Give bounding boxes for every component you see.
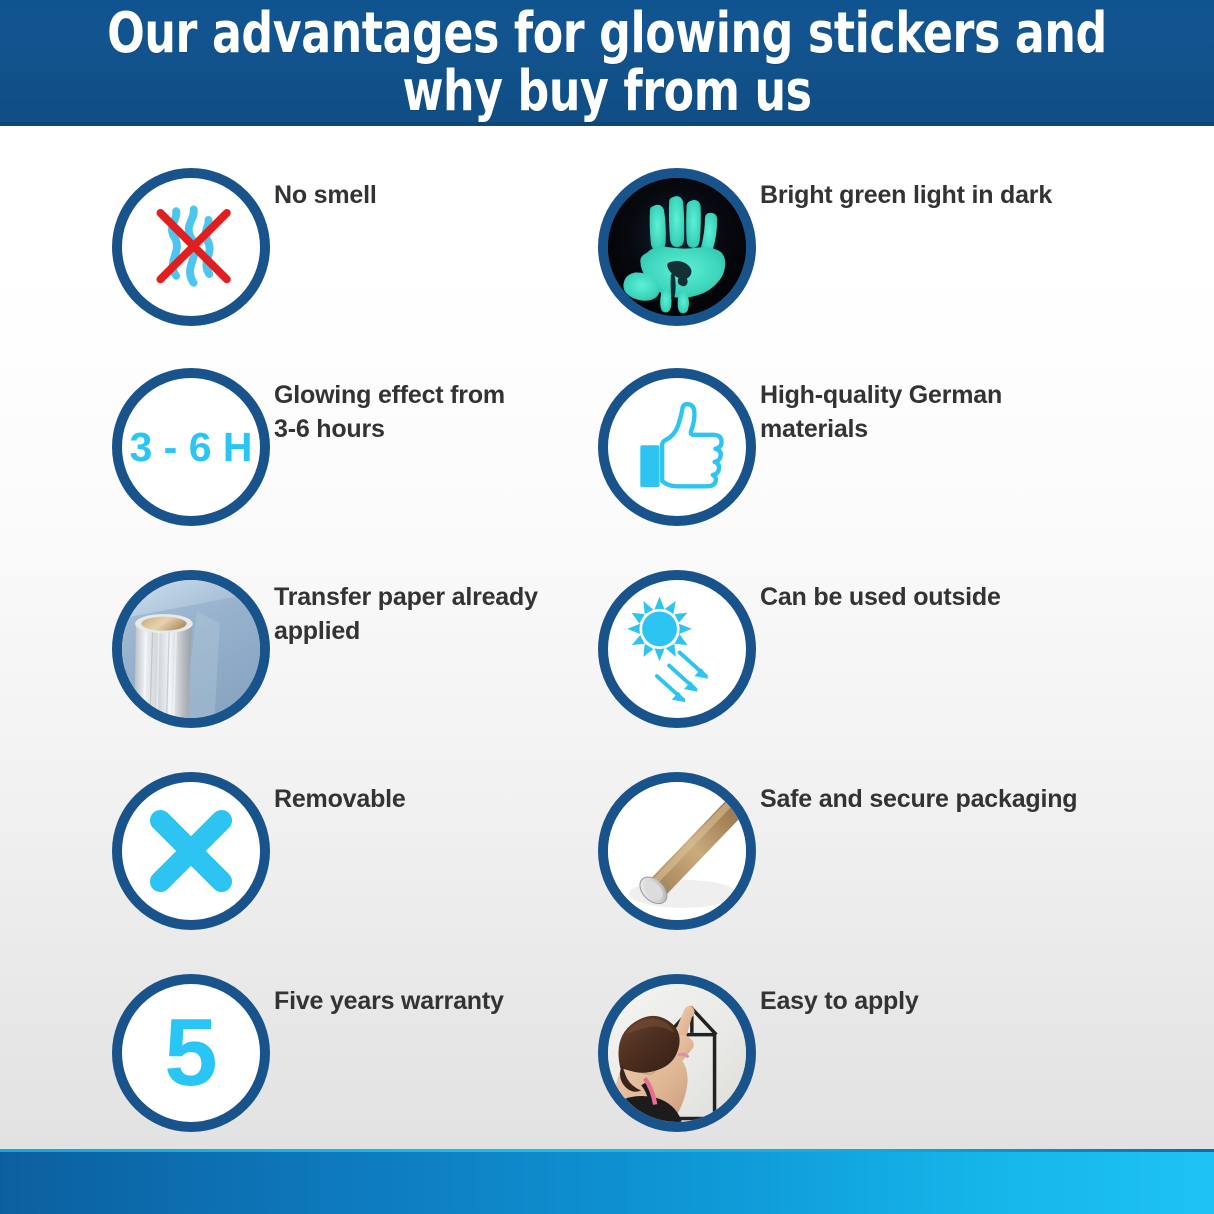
infographic-page: Our advantages for glowing stickers and … — [0, 0, 1214, 1214]
no-smell-glyph — [122, 178, 260, 316]
paper-roll-glyph — [122, 580, 260, 718]
x-glyph — [122, 782, 260, 920]
page-title: Our advantages for glowing stickers and … — [83, 5, 1130, 121]
icon-circle — [598, 772, 756, 930]
icon-circle — [598, 168, 756, 326]
tube-glyph — [608, 782, 746, 920]
feature-label: Glowing effect from 3-6 hours — [274, 378, 614, 446]
sun-rays-glyph — [608, 580, 746, 718]
woman-applying-decal-photo — [598, 974, 756, 1132]
cross-x-icon — [112, 772, 270, 930]
feature-label: Easy to apply — [760, 984, 1100, 1018]
glowing-handprint-icon — [598, 168, 756, 326]
feature-no-smell: No smell — [100, 168, 620, 368]
header-banner: Our advantages for glowing stickers and … — [0, 0, 1214, 126]
feature-glowing-effect-hours: 3 - 6 H Glowing effect from 3-6 hours — [100, 368, 620, 568]
icon-circle — [598, 368, 756, 526]
icon-circle — [112, 168, 270, 326]
thumbs-up-glyph — [608, 378, 746, 516]
feature-label: Transfer paper already applied — [274, 580, 614, 648]
applying-decal-glyph — [608, 984, 746, 1122]
icon-circle — [112, 368, 270, 526]
icon-circle — [112, 772, 270, 930]
feature-removable: Removable — [100, 772, 620, 972]
feature-safe-packaging: Safe and secure packaging — [586, 772, 1106, 972]
feature-bright-green-light: Bright green light in dark — [586, 168, 1106, 368]
cardboard-tube-photo — [598, 772, 756, 930]
sun-with-rays-icon — [598, 570, 756, 728]
hours-badge-icon: 3 - 6 H — [112, 368, 270, 526]
feature-five-years-warranty: 5 Five years warranty — [100, 974, 620, 1174]
feature-label: High-quality German materials — [760, 378, 1100, 446]
features-grid: No smell — [0, 126, 1214, 1149]
number-badge-icon: 5 — [112, 974, 270, 1132]
feature-label: Bright green light in dark — [760, 178, 1100, 212]
icon-circle — [112, 974, 270, 1132]
transfer-paper-roll-photo — [112, 570, 270, 728]
no-smell-icon — [112, 168, 270, 326]
thumbs-up-icon — [598, 368, 756, 526]
feature-transfer-paper: Transfer paper already applied — [100, 570, 620, 770]
handprint-glyph — [608, 178, 746, 316]
feature-used-outside: Can be used outside — [586, 570, 1106, 770]
icon-circle — [598, 974, 756, 1132]
icon-circle — [112, 570, 270, 728]
feature-label: Can be used outside — [760, 580, 1100, 614]
icon-circle — [598, 570, 756, 728]
feature-label: Removable — [274, 782, 614, 816]
feature-label: Five years warranty — [274, 984, 614, 1018]
footer-banner — [0, 1152, 1214, 1214]
feature-german-materials: High-quality German materials — [586, 368, 1106, 568]
feature-label: Safe and secure packaging — [760, 782, 1100, 816]
feature-easy-to-apply: Easy to apply — [586, 974, 1106, 1174]
feature-label: No smell — [274, 178, 614, 212]
